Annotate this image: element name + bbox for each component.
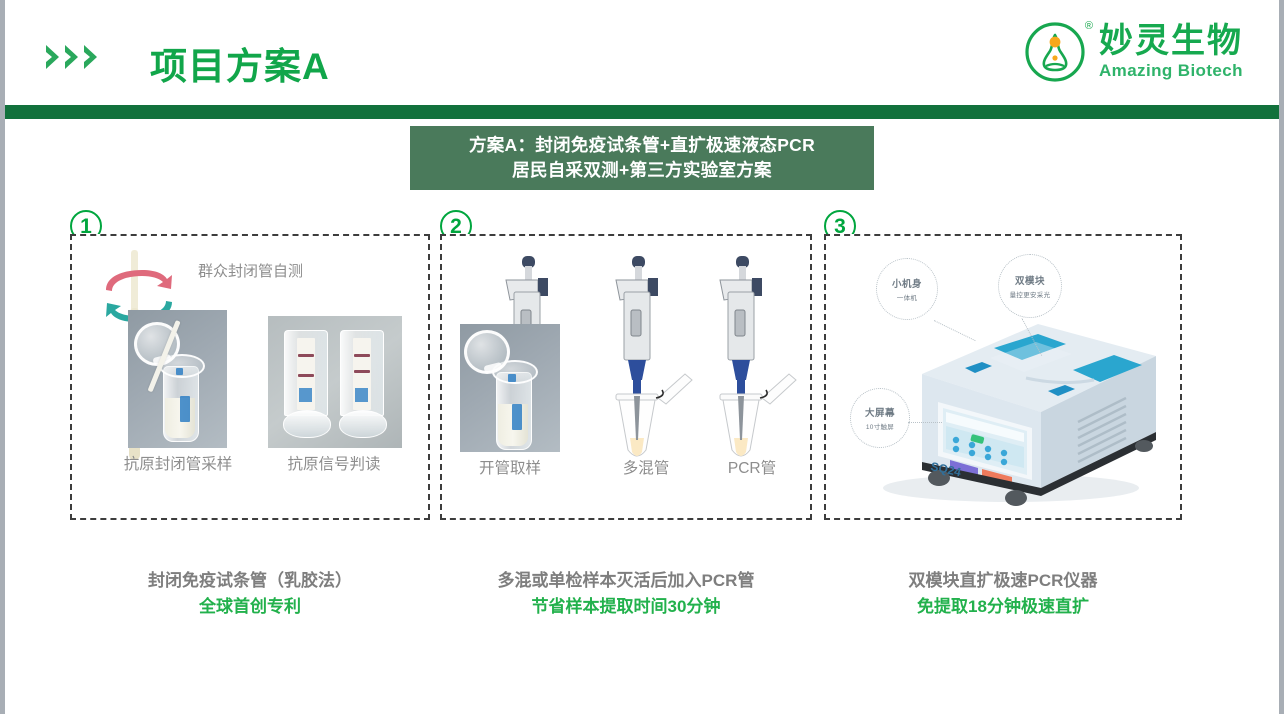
window-edge-right (1279, 0, 1284, 714)
step-1-caption-line-2: 全球首创专利 (70, 594, 430, 620)
banner-line-2: 居民自采双测+第三方实验室方案 (512, 158, 772, 183)
step-1: 1 群众封闭管自测 (70, 210, 430, 530)
callout-large-screen-sub: 10寸触屏 (866, 421, 894, 431)
registered-trademark-icon: ® (1085, 20, 1093, 32)
step-1-panel-title: 群众封闭管自测 (198, 260, 303, 281)
callout-small-body-title: 小机身 (892, 276, 922, 290)
pipette-illustration-3 (694, 252, 822, 466)
callout-dual-module-title: 双模块 (1015, 273, 1045, 287)
step-3-panel: SQ24 小机身 一体机 双模块 量控更安采光 大屏幕 10寸触屏 (824, 234, 1182, 520)
callout-dual-module: 双模块 量控更安采光 (998, 254, 1062, 318)
step-1-panel: 群众封闭管自测 (70, 234, 430, 520)
photo-open-tube-sampling (460, 324, 560, 452)
step-3-caption: 双模块直扩极速PCR仪器 免提取18分钟极速直扩 (824, 568, 1182, 621)
logo-text-cn: 妙灵生物 (1099, 24, 1243, 58)
callout-small-body-sub: 一体机 (897, 292, 917, 302)
callout-large-screen: 大屏幕 10寸触屏 (850, 388, 910, 448)
step-2-caption-line-1: 多混或单检样本灭活后加入PCR管 (440, 568, 812, 594)
step-3-caption-line-2: 免提取18分钟极速直扩 (824, 594, 1182, 620)
scheme-banner: 方案A：封闭免疫试条管+直扩极速液态PCR 居民自采双测+第三方实验室方案 (410, 126, 874, 190)
step-2-photo-caption-1: 开管取样 (450, 456, 570, 478)
callout-large-screen-title: 大屏幕 (865, 405, 895, 419)
step-1-photo-caption-1: 抗原封闭管采样 (98, 452, 258, 474)
step-2-photo-caption-3: PCR管 (692, 456, 812, 478)
callout-dual-module-sub: 量控更安采光 (1010, 289, 1051, 299)
step-2: 2 开管取样 (440, 210, 812, 530)
step-2-photo-caption-2: 多混管 (586, 456, 706, 478)
flask-circle-logo-icon: ® (1024, 18, 1090, 84)
photo-antigen-sampling (128, 310, 227, 448)
step-1-caption-line-1: 封闭免疫试条管（乳胶法） (70, 568, 430, 594)
callout-small-body: 小机身 一体机 (876, 258, 938, 320)
step-1-photo-caption-2: 抗原信号判读 (254, 452, 414, 474)
page-title: 项目方案A (150, 36, 330, 90)
slide-header: 项目方案A ® 妙灵生物 Amazing Biotech (5, 0, 1279, 105)
banner-line-1: 方案A：封闭免疫试条管+直扩极速液态PCR (469, 133, 815, 158)
step-3: 3 (824, 210, 1182, 530)
header-divider-band (5, 105, 1279, 119)
step-3-caption-line-1: 双模块直扩极速PCR仪器 (824, 568, 1182, 594)
company-logo: ® 妙灵生物 Amazing Biotech (1024, 18, 1243, 84)
step-2-caption-line-2: 节省样本提取时间30分钟 (440, 594, 812, 620)
step-2-panel: 开管取样 多混管 (440, 234, 812, 520)
callout-leader-3 (908, 422, 942, 423)
logo-text-en: Amazing Biotech (1099, 62, 1243, 79)
step-1-caption: 封闭免疫试条管（乳胶法） 全球首创专利 (70, 568, 430, 621)
step-2-caption: 多混或单检样本灭活后加入PCR管 节省样本提取时间30分钟 (440, 568, 812, 621)
photo-antigen-readout (268, 316, 402, 448)
triple-chevron-right-icon (45, 44, 100, 70)
